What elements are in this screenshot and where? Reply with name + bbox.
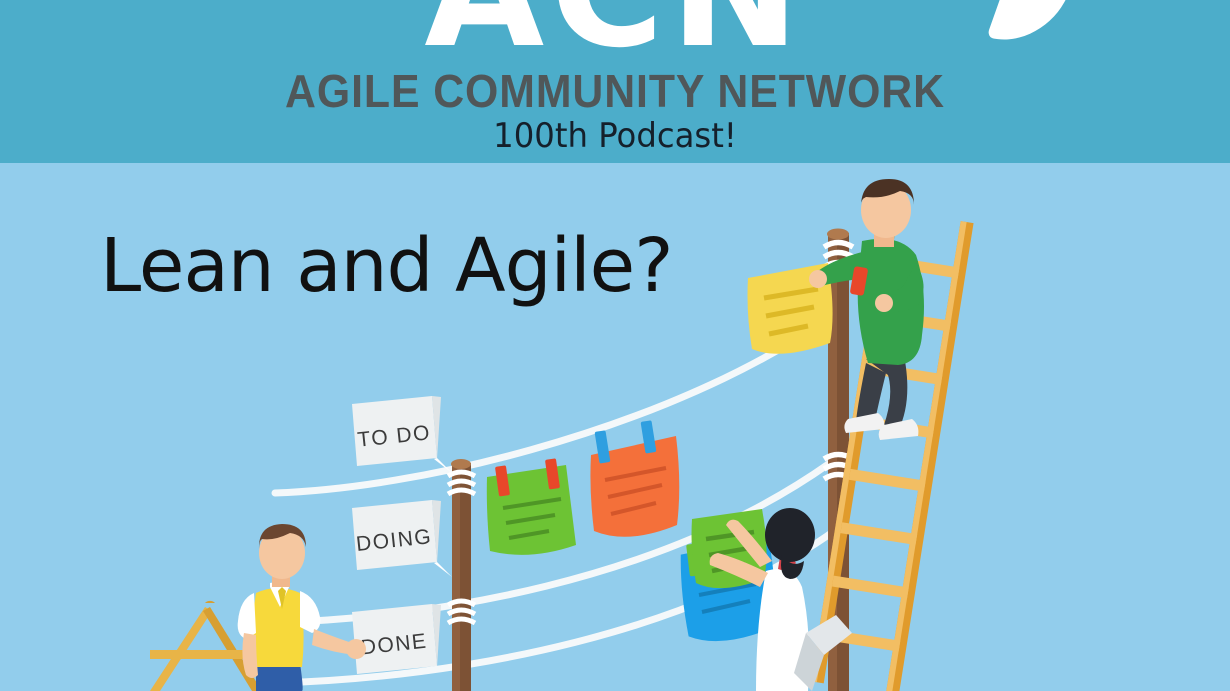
brand-name: AGILE COMMUNITY NETWORK — [43, 64, 1187, 118]
board-label-doing: DOING — [352, 500, 452, 577]
slide-title: Lean and Agile? — [100, 223, 672, 309]
wooden-post-left — [448, 459, 475, 691]
sticky-note-orange — [590, 420, 679, 537]
slide-body: TO DO DOING DONE — [0, 163, 1230, 691]
sticky-note-green-left — [487, 458, 576, 555]
board-label-todo: TO DO — [352, 396, 452, 473]
man-with-stepladder — [238, 524, 366, 691]
board-label-done: DONE — [352, 604, 441, 674]
header-band: ACN AGILE COMMUNITY NETWORK 100th Podcas… — [0, 0, 1230, 163]
podcast-subtitle: 100th Podcast! — [31, 116, 1200, 156]
